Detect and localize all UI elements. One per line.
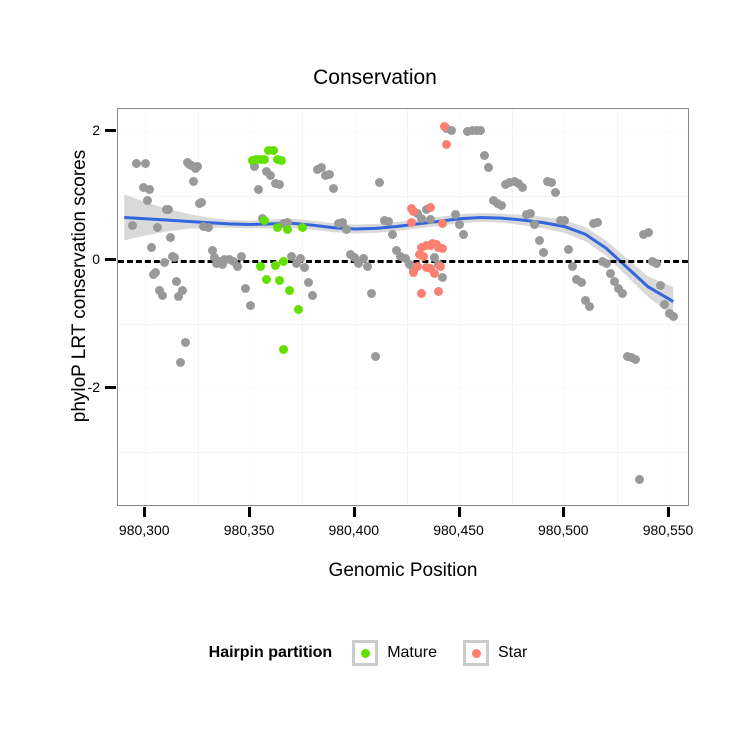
legend-item-mature[interactable]: Mature xyxy=(352,640,437,666)
x-axis-label: Genomic Position xyxy=(117,560,689,582)
scatter-point-star xyxy=(417,289,426,298)
scatter-point-other xyxy=(342,225,351,234)
x-axis-tick-label: 980,500 xyxy=(523,522,603,538)
scatter-point-other xyxy=(160,258,169,267)
scatter-point-other xyxy=(371,352,380,361)
scatter-point-other xyxy=(246,301,255,310)
scatter-point-other xyxy=(233,262,242,271)
scatter-point-mature xyxy=(260,155,269,164)
scatter-point-other xyxy=(241,284,250,293)
scatter-point-other xyxy=(147,243,156,252)
scatter-point-mature xyxy=(269,146,278,155)
scatter-point-other xyxy=(254,185,263,194)
scatter-point-other xyxy=(367,289,376,298)
scatter-point-other xyxy=(631,355,640,364)
scatter-point-other xyxy=(158,291,167,300)
legend: Hairpin partition Mature Star xyxy=(0,640,750,666)
mature-legend-key xyxy=(352,640,378,666)
x-axis-tick xyxy=(458,507,461,517)
scatter-point-other xyxy=(308,291,317,300)
x-axis-tick xyxy=(562,507,565,517)
legend-title: Hairpin partition xyxy=(209,644,333,662)
scatter-point-mature xyxy=(256,262,265,271)
x-axis-tick-label: 980,450 xyxy=(419,522,499,538)
scatter-point-other xyxy=(669,312,678,321)
scatter-point-other xyxy=(275,180,284,189)
x-axis-tick xyxy=(353,507,356,517)
scatter-point-other xyxy=(141,159,150,168)
star-legend-key xyxy=(463,640,489,666)
scatter-point-other xyxy=(459,230,468,239)
scatter-point-other xyxy=(204,223,213,232)
scatter-point-other xyxy=(181,338,190,347)
scatter-point-mature xyxy=(275,276,284,285)
scatter-point-other xyxy=(151,268,160,277)
scatter-point-star xyxy=(426,203,435,212)
loess-smooth-layer xyxy=(118,109,690,507)
y-axis-tick-label: 2 xyxy=(72,122,100,138)
y-axis-tick xyxy=(105,386,116,389)
scatter-point-other xyxy=(535,236,544,245)
scatter-point-mature xyxy=(277,156,286,165)
scatter-point-mature xyxy=(262,275,271,284)
scatter-point-other xyxy=(577,278,586,287)
scatter-point-other xyxy=(197,198,206,207)
x-axis-tick xyxy=(667,507,670,517)
scatter-point-other xyxy=(193,162,202,171)
scatter-point-mature xyxy=(279,257,288,266)
scatter-point-mature xyxy=(283,225,292,234)
x-axis-tick-label: 980,350 xyxy=(209,522,289,538)
y-axis-tick xyxy=(105,258,116,261)
scatter-point-other xyxy=(564,245,573,254)
scatter-point-other xyxy=(166,233,175,242)
scatter-point-other xyxy=(164,205,173,214)
scatter-point-star xyxy=(419,252,428,261)
x-axis-tick-label: 980,300 xyxy=(104,522,184,538)
scatter-point-other xyxy=(568,262,577,271)
x-axis-tick-label: 980,400 xyxy=(314,522,394,538)
legend-item-star[interactable]: Star xyxy=(463,640,527,666)
y-axis-tick xyxy=(105,129,116,132)
plot-panel xyxy=(117,108,689,506)
scatter-point-other xyxy=(296,254,305,263)
y-axis-tick-label: -2 xyxy=(72,379,100,395)
scatter-point-other xyxy=(539,248,548,257)
mature-dot-icon xyxy=(361,649,370,658)
scatter-point-mature xyxy=(273,223,282,232)
scatter-point-other xyxy=(189,177,198,186)
scatter-point-other xyxy=(143,196,152,205)
scatter-point-other xyxy=(172,277,181,286)
scatter-point-other xyxy=(417,214,426,223)
page-title: Conservation xyxy=(0,66,750,90)
scatter-point-other xyxy=(170,253,179,262)
scatter-point-other xyxy=(602,259,611,268)
legend-label-mature: Mature xyxy=(387,644,437,662)
x-axis-tick xyxy=(248,507,251,517)
scatter-point-other xyxy=(300,263,309,272)
scatter-point-other xyxy=(363,262,372,271)
scatter-point-other xyxy=(426,215,435,224)
scatter-point-other xyxy=(304,278,313,287)
conservation-plot: Conservation phyloP LRT conservation sco… xyxy=(0,0,750,750)
star-dot-icon xyxy=(472,649,481,658)
x-axis-tick xyxy=(143,507,146,517)
scatter-point-star xyxy=(438,244,447,253)
scatter-point-other xyxy=(325,170,334,179)
scatter-point-other xyxy=(547,178,556,187)
scatter-point-other xyxy=(145,185,154,194)
scatter-point-other xyxy=(560,216,569,225)
scatter-point-other xyxy=(652,259,661,268)
y-axis-label: phyloP LRT conservation scores xyxy=(69,86,91,486)
scatter-point-mature xyxy=(260,216,269,225)
scatter-point-other xyxy=(455,220,464,229)
scatter-point-star xyxy=(407,218,416,227)
scatter-point-other xyxy=(644,228,653,237)
legend-label-star: Star xyxy=(498,644,527,662)
scatter-point-other xyxy=(384,217,393,226)
x-axis-tick-label: 980,550 xyxy=(628,522,708,538)
y-axis-tick-label: 0 xyxy=(72,251,100,267)
